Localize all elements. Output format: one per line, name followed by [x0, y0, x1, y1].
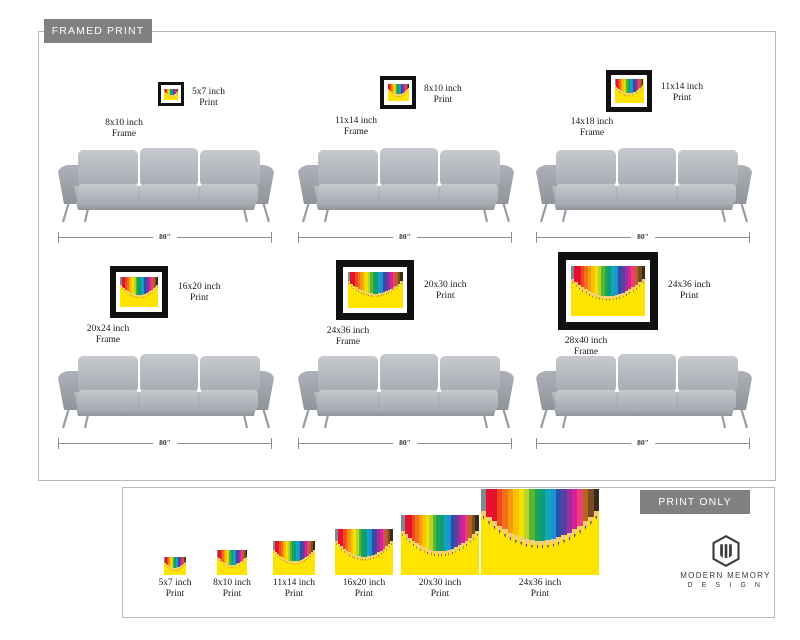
- pencil-artwork: [388, 84, 409, 101]
- dimension-label: 80": [153, 230, 177, 243]
- frame-mat: [343, 267, 407, 313]
- sofa-illustration: [292, 348, 520, 434]
- pencil-artwork: [120, 277, 158, 307]
- pencil: [390, 529, 393, 575]
- pencil: [408, 84, 409, 101]
- frame-mat: [566, 260, 650, 322]
- print-size-label: 5x7 inchPrint: [159, 578, 192, 600]
- pencil-artwork: [615, 79, 644, 103]
- print-size-label: 16x20 inchPrint: [343, 578, 385, 600]
- picture-frame: [158, 82, 184, 106]
- sofa-dimension-line: 80": [58, 230, 272, 244]
- print-size-label: 8x10 inchPrint: [213, 578, 251, 600]
- artwork-area: [164, 89, 178, 100]
- sofa-illustration: [530, 142, 758, 228]
- hexagon-monogram-icon: [709, 534, 743, 568]
- print-size-label: 20x30 inchPrint: [419, 578, 461, 600]
- artwork-area: [335, 529, 393, 575]
- print-only-banner: PRINT ONLY: [640, 490, 750, 514]
- print-size-label: 5x7 inchPrint: [192, 87, 225, 109]
- dimension-label: 80": [631, 436, 655, 449]
- artwork-area: [615, 79, 644, 103]
- framed-artwork[interactable]: [336, 260, 414, 320]
- framed-print-cell: 8x10 inchPrint11x14 inchFrame: [286, 44, 526, 259]
- framed-print-cell: 5x7 inchPrint8x10 inchFrame: [46, 44, 286, 259]
- framed-artwork[interactable]: [558, 252, 658, 330]
- pencil: [185, 557, 186, 575]
- dimension-label: 80": [153, 436, 177, 449]
- artwork-area: [273, 541, 315, 575]
- frame-mat: [384, 80, 412, 105]
- print-size-label: 16x20 inchPrint: [178, 282, 220, 304]
- picture-frame: [606, 70, 652, 112]
- picture-frame: [110, 266, 168, 318]
- framed-print-cell: 11x14 inchPrint14x18 inchFrame: [524, 44, 764, 259]
- framed-print-banner: FRAMED PRINT: [44, 19, 152, 43]
- pencil: [400, 272, 403, 308]
- artwork-area: [217, 550, 247, 575]
- frame-size-label: 20x24 inchFrame: [60, 324, 156, 346]
- sofa-illustration: [52, 348, 280, 434]
- pencil-artwork: [348, 272, 403, 308]
- pencil-artwork: [571, 266, 645, 316]
- size-comparison-sheet: FRAMED PRINT 5x7 inchPrint8x10 inchFrame: [0, 0, 800, 640]
- pencil-artwork: [217, 550, 247, 575]
- frame-size-label: 14x18 inchFrame: [544, 117, 640, 139]
- pencil: [594, 489, 599, 575]
- framed-artwork[interactable]: [380, 76, 416, 109]
- artwork-area: [401, 515, 479, 575]
- frame-mat: [611, 75, 647, 107]
- brand-logo: MODERN MEMORY D E S I G N: [668, 534, 783, 589]
- pencil-artwork: [401, 515, 479, 575]
- artwork-area: [571, 266, 645, 316]
- sofa-scale-reference: [52, 348, 280, 434]
- frame-size-label: 8x10 inchFrame: [76, 118, 172, 140]
- sofa-illustration: [292, 142, 520, 228]
- dimension-label: 80": [393, 230, 417, 243]
- sofa-dimension-line: 80": [58, 436, 272, 450]
- pencil-artwork: [164, 89, 178, 100]
- artwork-area: [481, 489, 599, 575]
- sofa-scale-reference: [530, 348, 758, 434]
- sofa-scale-reference: [530, 142, 758, 228]
- pencil: [156, 277, 158, 307]
- artwork-area: [120, 277, 158, 307]
- sofa-scale-reference: [292, 142, 520, 228]
- framed-artwork[interactable]: [606, 70, 652, 112]
- picture-frame: [336, 260, 414, 320]
- pencil: [642, 266, 645, 316]
- dimension-label: 80": [393, 436, 417, 449]
- pencil-artwork: [164, 557, 186, 575]
- artwork-area: [164, 557, 186, 575]
- pencil: [642, 79, 643, 103]
- framed-print-cell: 20x30 inchPrint24x36 inchFrame: [286, 250, 526, 465]
- pencil-artwork: [481, 489, 599, 575]
- pencil: [246, 550, 247, 575]
- print-size-label: 11x14 inchPrint: [661, 82, 703, 104]
- sofa-illustration: [52, 142, 280, 228]
- sofa-illustration: [530, 348, 758, 434]
- framed-print-cell: 24x36 inchPrint28x40 inchFrame: [524, 250, 764, 465]
- logo-line-2: D E S I G N: [668, 582, 783, 589]
- sofa-dimension-line: 80": [536, 436, 750, 450]
- print-size-label: 20x30 inchPrint: [424, 280, 466, 302]
- frame-size-label: 11x14 inchFrame: [308, 116, 404, 138]
- pencil: [475, 515, 479, 575]
- sofa-scale-reference: [292, 348, 520, 434]
- frame-mat: [116, 272, 162, 312]
- framed-artwork[interactable]: [158, 82, 184, 106]
- sofa-scale-reference: [52, 142, 280, 228]
- print-size-label: 24x36 inchPrint: [668, 280, 710, 302]
- sofa-dimension-line: 80": [298, 436, 512, 450]
- dimension-label: 80": [631, 230, 655, 243]
- frame-size-label: 24x36 inchFrame: [300, 326, 396, 348]
- pencil: [313, 541, 315, 575]
- pencil: [177, 89, 178, 100]
- frame-mat: [161, 85, 181, 103]
- sofa-dimension-line: 80": [536, 230, 750, 244]
- print-size-label: 11x14 inchPrint: [273, 578, 315, 600]
- print-size-label: 8x10 inchPrint: [424, 84, 462, 106]
- pencil-artwork: [273, 541, 315, 575]
- picture-frame: [558, 252, 658, 330]
- picture-frame: [380, 76, 416, 109]
- pencil-artwork: [335, 529, 393, 575]
- print-size-label: 24x36 inchPrint: [519, 578, 561, 600]
- artwork-area: [388, 84, 409, 101]
- artwork-area: [348, 272, 403, 308]
- framed-artwork[interactable]: [110, 266, 168, 318]
- sofa-dimension-line: 80": [298, 230, 512, 244]
- logo-line-1: MODERN MEMORY: [668, 571, 783, 580]
- framed-print-cell: 16x20 inchPrint20x24 inchFrame: [46, 250, 286, 465]
